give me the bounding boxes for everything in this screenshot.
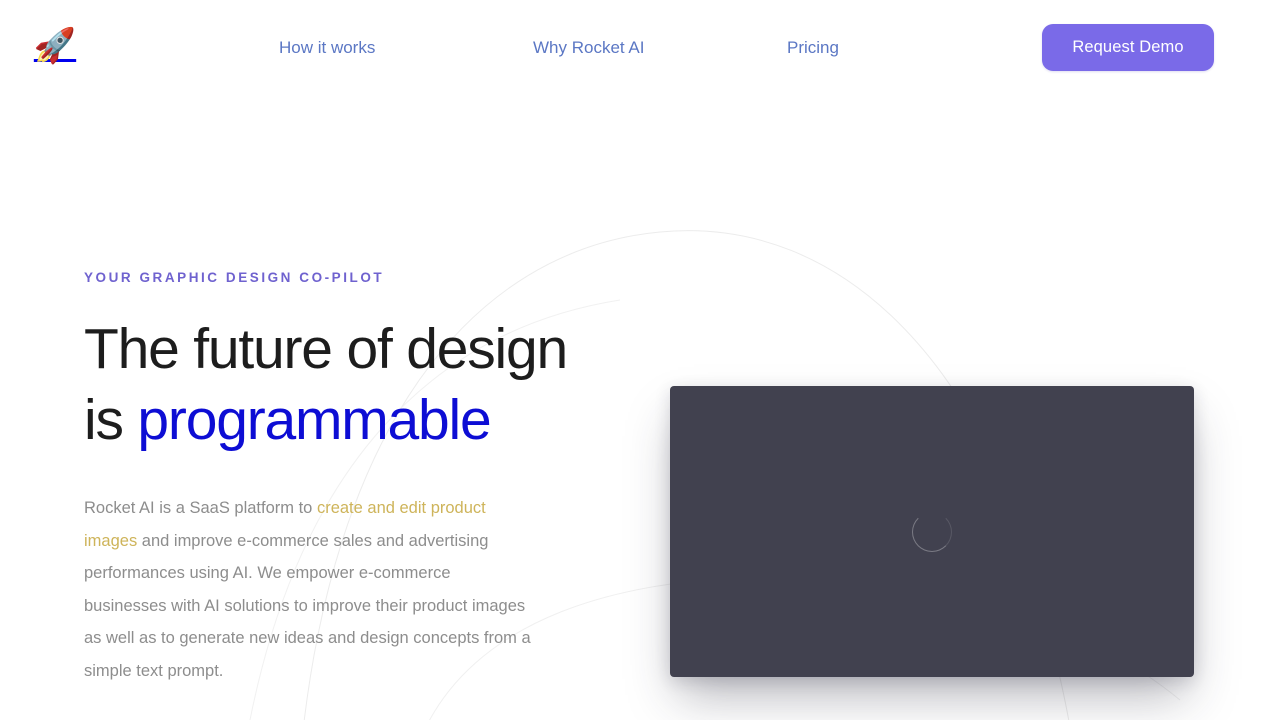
site-header: 🚀 How it works Why Rocket AI Pricing Req… — [0, 0, 1280, 96]
loading-spinner-icon — [912, 512, 952, 552]
headline-line-2-prefix: is — [84, 388, 137, 452]
nav-item-how-it-works[interactable]: How it works — [279, 36, 375, 60]
page-title: The future of design is programmable — [84, 314, 584, 456]
hero-eyebrow: YOUR GRAPHIC DESIGN CO-PILOT — [84, 268, 604, 288]
headline-line-1: The future of design — [84, 317, 567, 381]
nav-item-why-rocket-ai[interactable]: Why Rocket AI — [533, 36, 644, 60]
hero-video-player[interactable] — [670, 386, 1194, 677]
request-demo-button[interactable]: Request Demo — [1042, 24, 1214, 71]
hero-section: YOUR GRAPHIC DESIGN CO-PILOT The future … — [84, 268, 604, 687]
hero-description: Rocket AI is a SaaS platform to create a… — [84, 492, 536, 687]
headline-accent-word: programmable — [137, 388, 490, 452]
hero-description-part-2: and improve e-commerce sales and adverti… — [84, 532, 531, 680]
hero-description-part-1: Rocket AI is a SaaS platform to — [84, 499, 317, 517]
nav-item-pricing[interactable]: Pricing — [787, 36, 839, 60]
